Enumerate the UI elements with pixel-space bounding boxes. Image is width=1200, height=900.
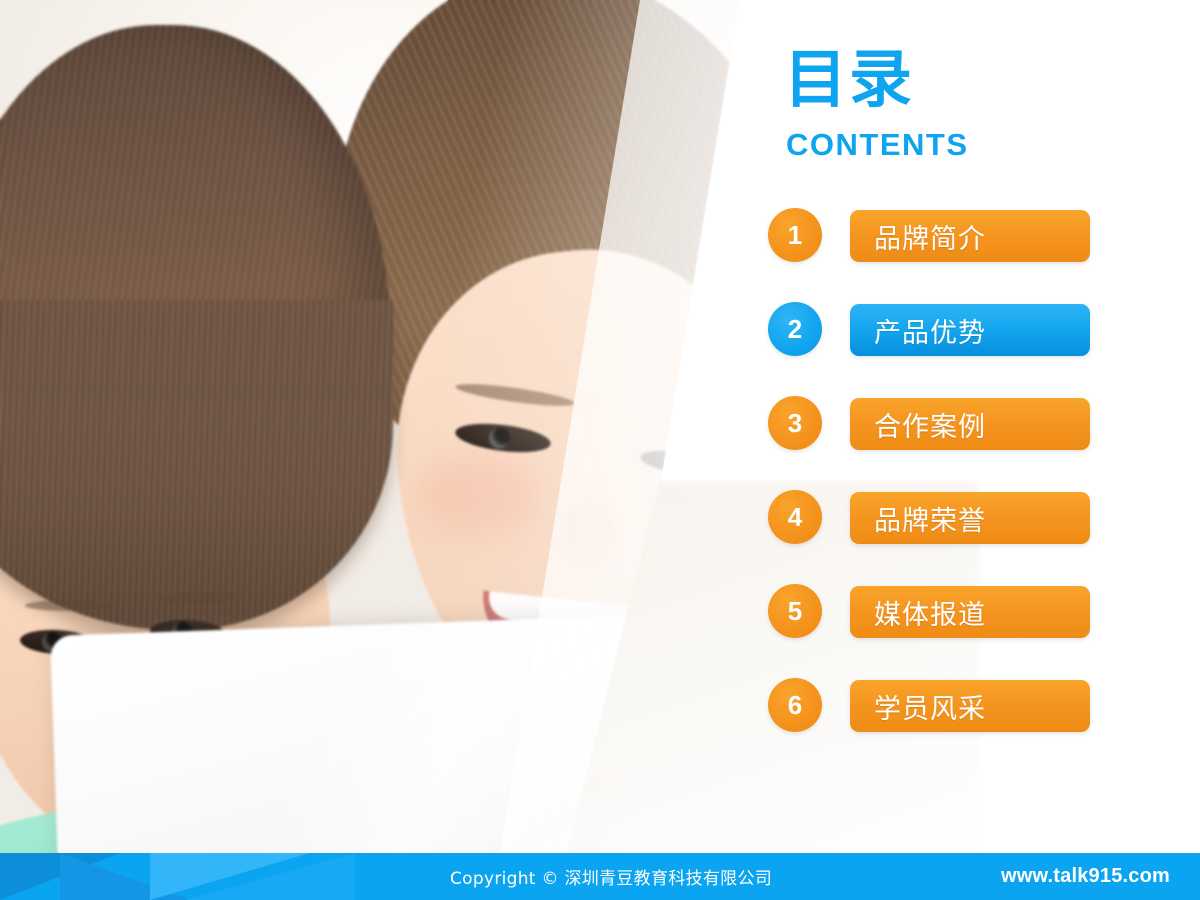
menu-item-label: 品牌荣誉 [874, 499, 986, 538]
menu-item-label: 产品优势 [874, 311, 986, 350]
footer-facets [0, 853, 460, 900]
menu-number-badge: 4 [768, 490, 822, 544]
content-area: 目录 CONTENTS 1 品牌简介 2 产品优势 3 合作案例 [0, 0, 1200, 853]
menu-item-5[interactable]: 5 媒体报道 [768, 584, 1108, 678]
menu-item-2[interactable]: 2 产品优势 [768, 302, 1108, 396]
menu-item-6[interactable]: 6 学员风采 [768, 678, 1108, 772]
menu-item-label: 媒体报道 [874, 593, 986, 632]
menu-bar[interactable]: 合作案例 [850, 398, 1090, 450]
footer-website[interactable]: www.talk915.com [1001, 853, 1170, 900]
page-title-cn: 目录 [784, 48, 914, 111]
footer-facet-4 [185, 853, 355, 900]
presentation-slide: 目录 CONTENTS 1 品牌简介 2 产品优势 3 合作案例 [0, 0, 1200, 900]
menu-number-badge: 3 [768, 396, 822, 450]
menu-bar[interactable]: 学员风采 [850, 680, 1090, 732]
menu-item-label: 合作案例 [874, 405, 986, 444]
menu-number-badge: 1 [768, 208, 822, 262]
menu-number-badge: 5 [768, 584, 822, 638]
menu-number-badge: 2 [768, 302, 822, 356]
menu-bar[interactable]: 品牌简介 [850, 210, 1090, 262]
menu-item-4[interactable]: 4 品牌荣誉 [768, 490, 1108, 584]
menu-item-1[interactable]: 1 品牌简介 [768, 208, 1108, 302]
menu-bar-selected[interactable]: 产品优势 [850, 304, 1090, 356]
footer-bar: Copyright © 深圳青豆教育科技有限公司 www.talk915.com [0, 853, 1200, 900]
page-title-en: CONTENTS [786, 129, 969, 160]
menu-bar[interactable]: 品牌荣誉 [850, 492, 1090, 544]
menu-item-label: 品牌简介 [874, 217, 986, 256]
menu-bar[interactable]: 媒体报道 [850, 586, 1090, 638]
contents-menu: 1 品牌简介 2 产品优势 3 合作案例 4 品牌荣誉 [768, 208, 1108, 772]
menu-number-badge: 6 [768, 678, 822, 732]
menu-item-label: 学员风采 [874, 687, 986, 726]
menu-item-3[interactable]: 3 合作案例 [768, 396, 1108, 490]
footer-copyright: Copyright © 深圳青豆教育科技有限公司 [450, 853, 772, 900]
